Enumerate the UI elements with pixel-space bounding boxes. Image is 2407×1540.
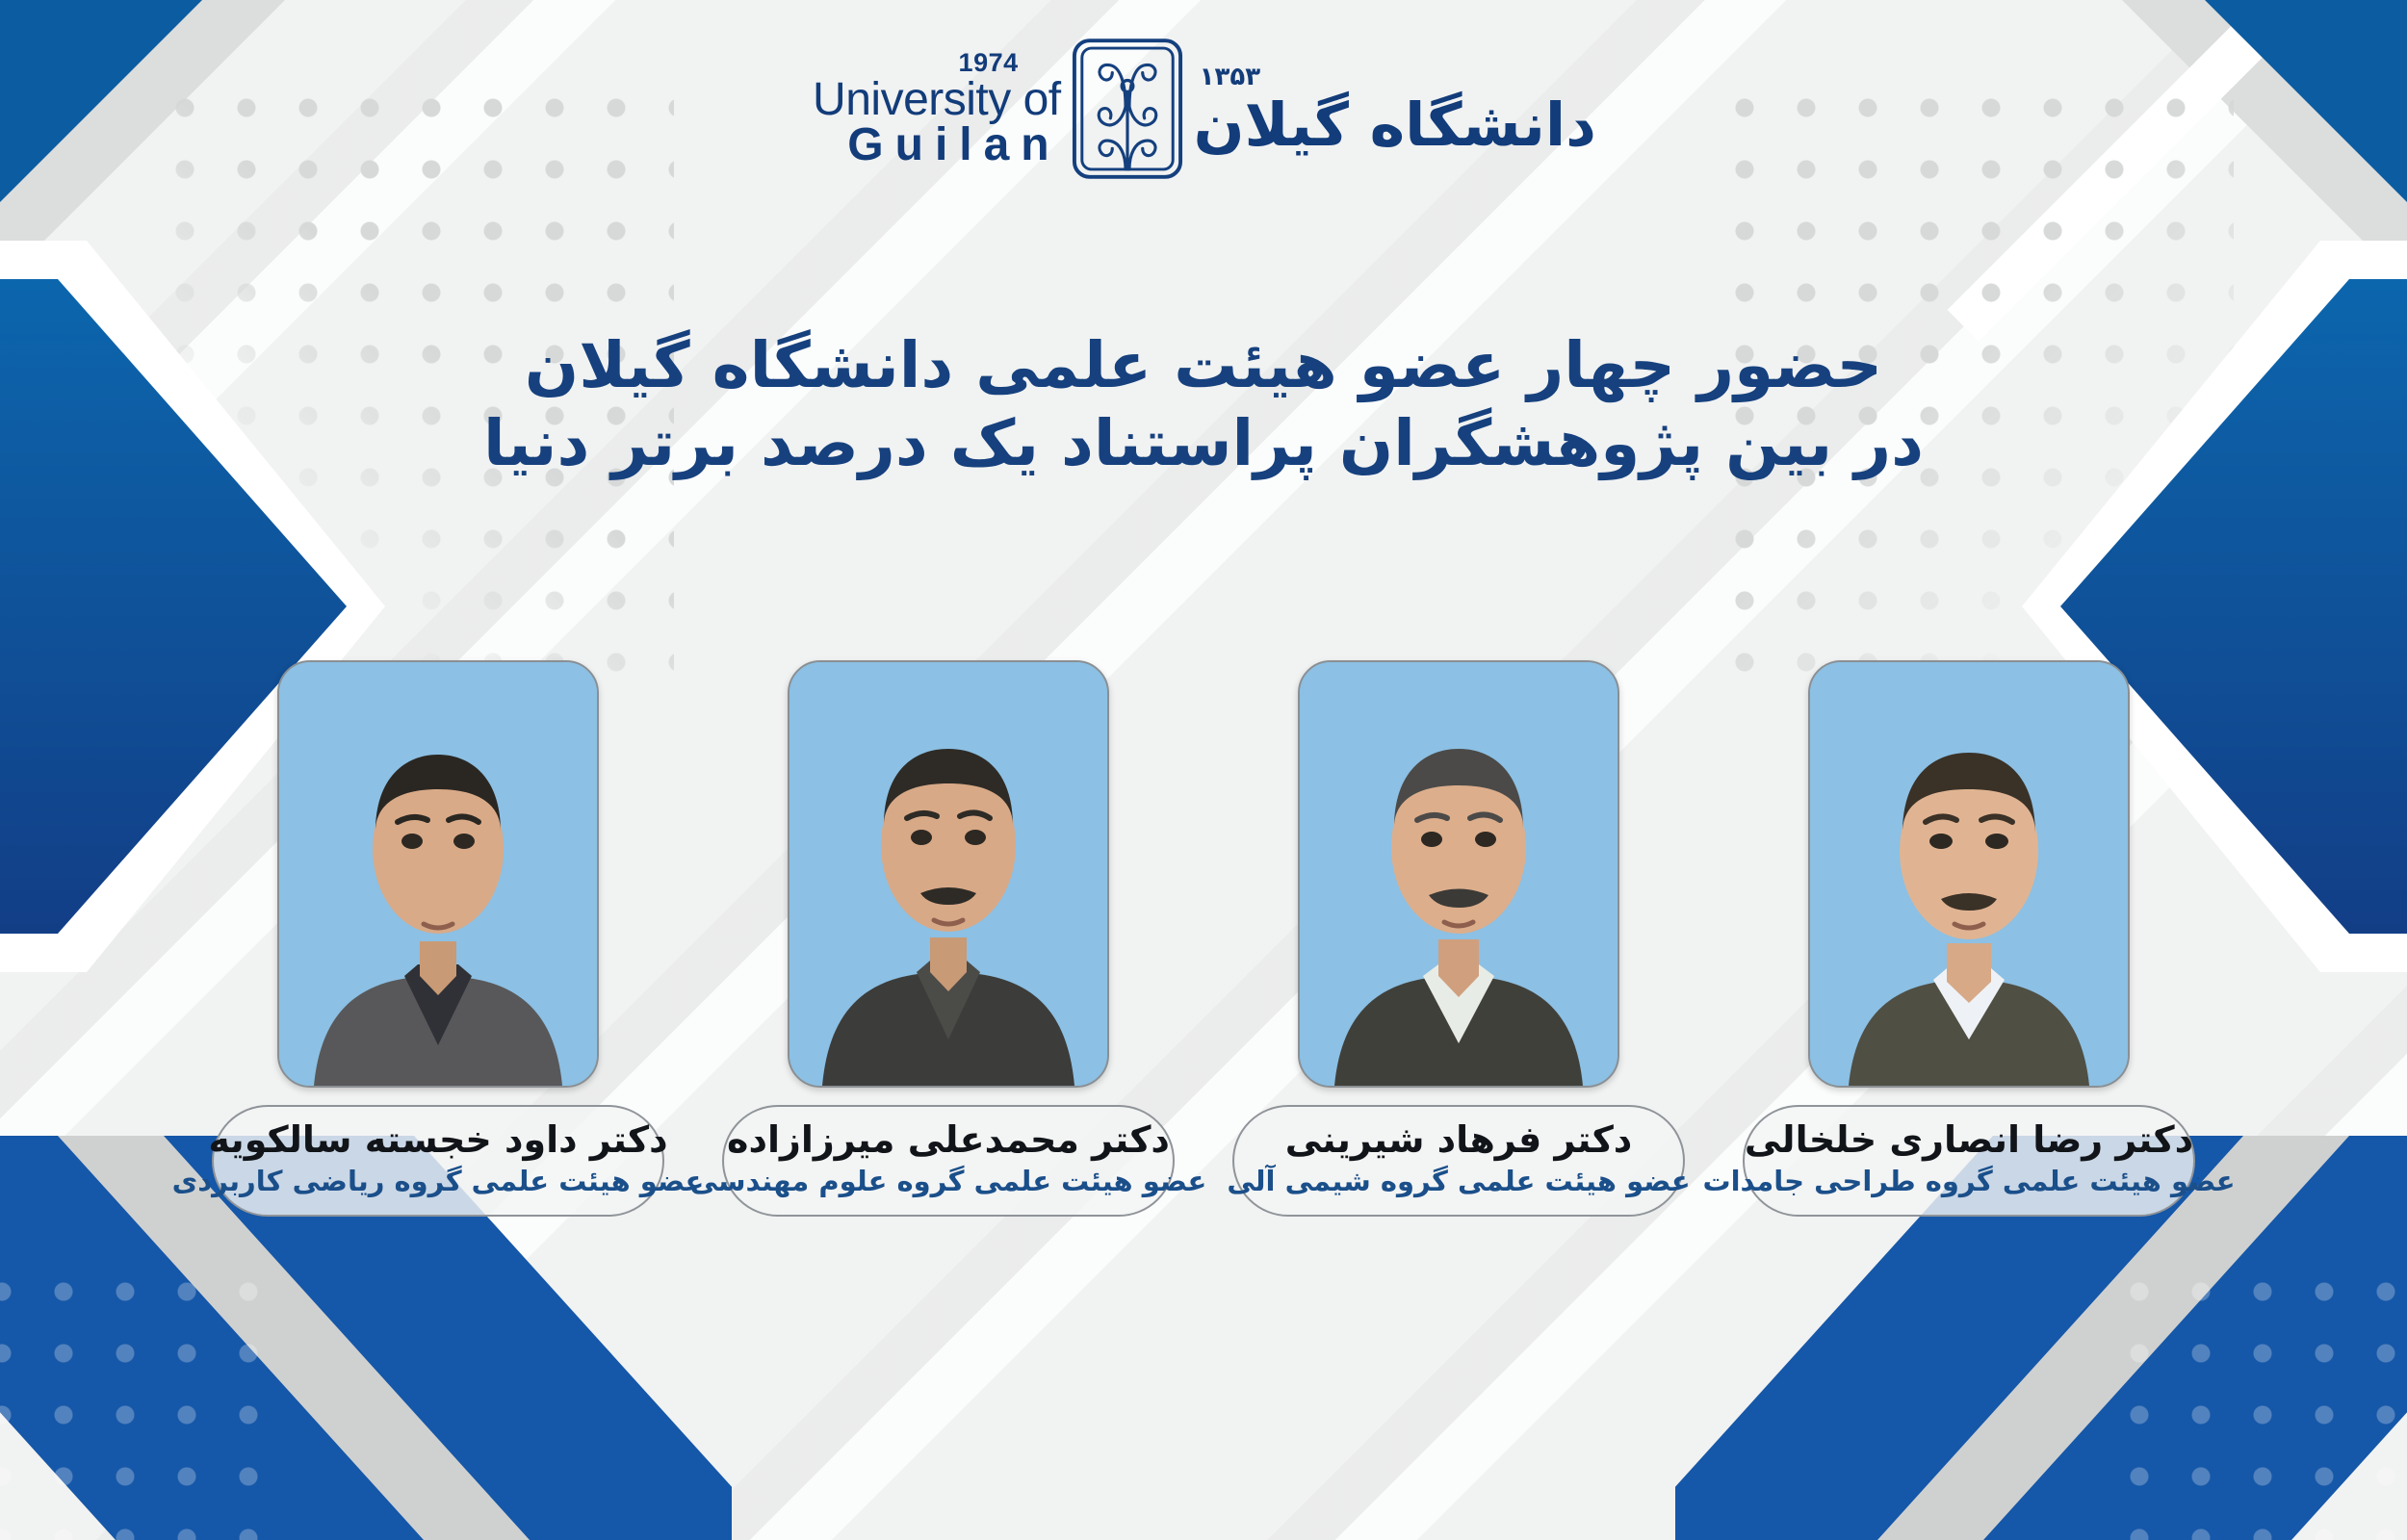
- researcher-role: عضو هیئت علمی گروه علوم مهندسی: [690, 1165, 1207, 1198]
- logo-year-gregorian: 1974: [813, 50, 1019, 75]
- researcher-card: دکتر داود خجسته سالکویه عضو هیئت علمی گر…: [183, 660, 693, 1217]
- researcher-role: عضو هیئت علمی گروه طراحی جامدات: [1702, 1165, 2235, 1198]
- headline: حضور چهار عضو هیئت علمی دانشگاه گیلان در…: [0, 327, 2407, 482]
- decor-dots-bottom-left: [0, 1280, 279, 1540]
- researcher-namecard: دکتر محمدعلی میرزازاده عضو هیئت علمی گرو…: [722, 1105, 1175, 1217]
- logo-university-word: University of: [813, 77, 1061, 122]
- guilan-emblem-icon: [1071, 37, 1184, 181]
- portrait-reza-ansari-khalkhali: [1808, 660, 2130, 1088]
- university-logo: 1974 University of Guilan: [0, 37, 2407, 181]
- poster-canvas: 1974 University of Guilan: [0, 0, 2407, 1540]
- researcher-name: دکتر رضا انصاری خلخالی: [1745, 1119, 2193, 1162]
- decor-dots-bottom-right: [2128, 1280, 2407, 1540]
- researcher-grid: دکتر رضا انصاری خلخالی عضو هیئت علمی گرو…: [0, 660, 2407, 1217]
- portrait-davood-khojasteh-salkuyeh: [277, 660, 599, 1088]
- researcher-card: دکتر محمدعلی میرزازاده عضو هیئت علمی گرو…: [693, 660, 1203, 1217]
- researcher-role: عضو هیئت علمی گروه شیمی آلی: [1227, 1165, 1690, 1198]
- logo-english-block: 1974 University of Guilan: [807, 50, 1061, 168]
- researcher-card: دکتر رضا انصاری خلخالی عضو هیئت علمی گرو…: [1714, 660, 2224, 1217]
- researcher-card: دکتر فرهاد شیرینی عضو هیئت علمی گروه شیم…: [1203, 660, 1714, 1217]
- portrait-mohammadali-mirzazadeh: [788, 660, 1109, 1088]
- logo-year-hijri: ۱۳۵۳: [1200, 63, 1596, 91]
- researcher-name: دکتر داود خجسته سالکویه: [208, 1119, 667, 1162]
- logo-name-persian: دانشگاه گیلان: [1194, 95, 1596, 155]
- logo-name-english: Guilan: [813, 122, 1061, 167]
- headline-line-2: در بین پژوهشگران پراستناد یک درصد برتر د…: [0, 405, 2407, 483]
- portrait-farhad-shirini: [1298, 660, 1619, 1088]
- researcher-namecard: دکتر رضا انصاری خلخالی عضو هیئت علمی گرو…: [1743, 1105, 2195, 1217]
- researcher-role: عضو هیئت علمی گروه ریاضی کاربردی: [172, 1165, 705, 1198]
- researcher-name: دکتر محمدعلی میرزازاده: [727, 1119, 1170, 1162]
- researcher-namecard: دکتر داود خجسته سالکویه عضو هیئت علمی گر…: [212, 1105, 664, 1217]
- researcher-name: دکتر فرهاد شیرینی: [1285, 1119, 1633, 1162]
- headline-line-1: حضور چهار عضو هیئت علمی دانشگاه گیلان: [0, 327, 2407, 405]
- researcher-namecard: دکتر فرهاد شیرینی عضو هیئت علمی گروه شیم…: [1232, 1105, 1685, 1217]
- logo-persian-block: ۱۳۵۳ دانشگاه گیلان: [1194, 63, 1600, 155]
